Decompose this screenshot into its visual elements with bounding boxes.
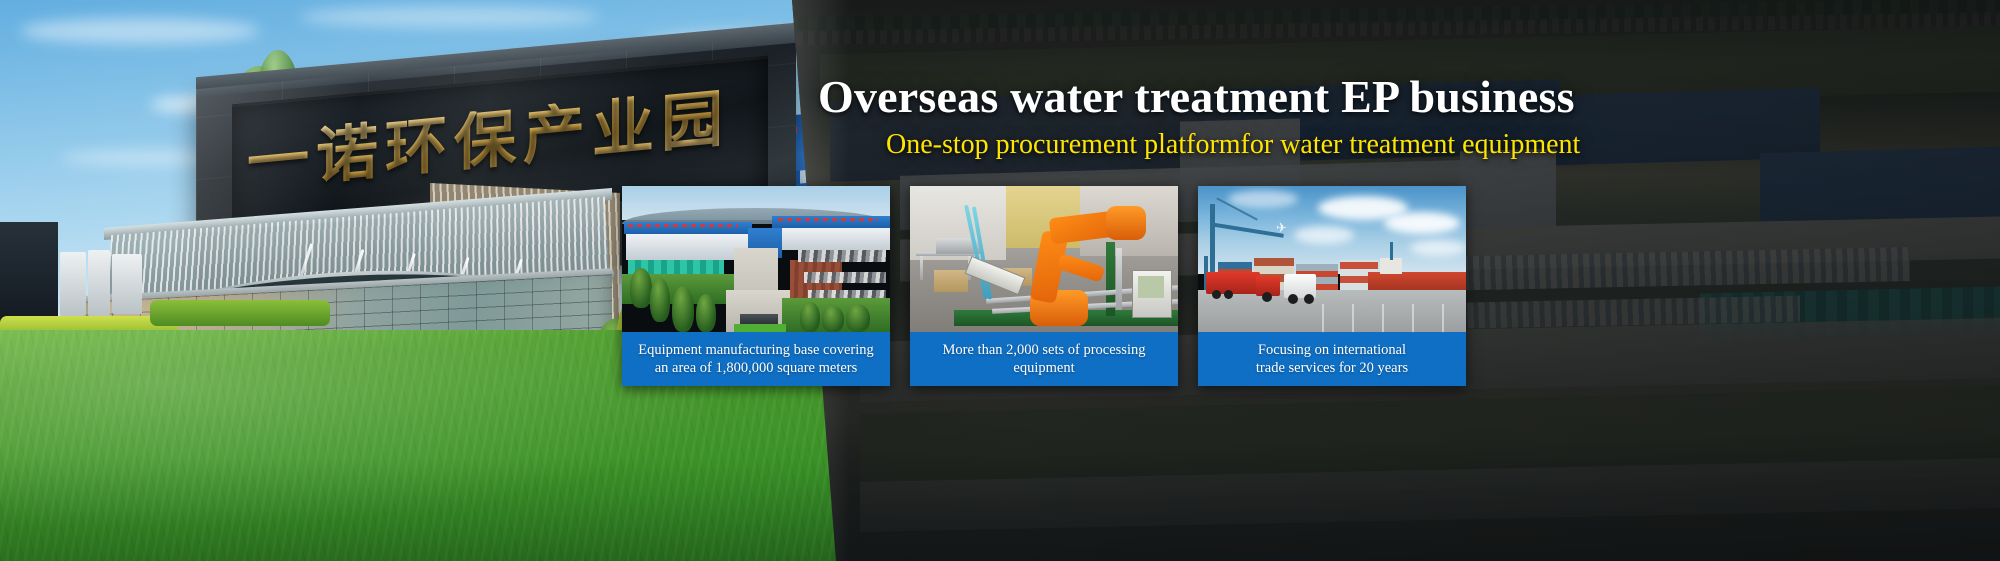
gantry-crane-mast bbox=[1210, 204, 1215, 276]
entrance-lawn bbox=[734, 324, 786, 332]
tree bbox=[822, 306, 844, 332]
promo-banner: 一诺环保产业园 bbox=[0, 0, 2000, 561]
caption-line-1: Equipment manufacturing base covering bbox=[638, 342, 874, 358]
card-image-robotic-arm bbox=[910, 186, 1178, 332]
parked-cars bbox=[798, 250, 886, 262]
hedge-row bbox=[150, 300, 330, 326]
machine-post bbox=[1116, 248, 1122, 310]
cloud bbox=[20, 18, 260, 44]
parked-cars bbox=[804, 272, 886, 283]
caption-line-2: trade services for 20 years bbox=[1256, 360, 1408, 376]
roof-banner bbox=[778, 218, 878, 221]
factory-facade bbox=[774, 228, 890, 250]
apron-markings bbox=[1322, 304, 1466, 332]
truck-wheel bbox=[1304, 294, 1314, 304]
utility-cabinet bbox=[112, 254, 142, 314]
crate bbox=[934, 270, 968, 292]
ship-mast bbox=[1390, 242, 1393, 260]
tree bbox=[846, 304, 870, 332]
feature-card-international-trade[interactable]: ✈ bbox=[1198, 186, 1466, 386]
cloud bbox=[1294, 226, 1354, 244]
utility-cabinet bbox=[88, 250, 110, 316]
tree bbox=[696, 294, 716, 332]
cloud bbox=[1410, 240, 1466, 256]
factory-facade bbox=[626, 234, 750, 260]
tree bbox=[630, 268, 652, 308]
feature-card-manufacturing-base[interactable]: Equipment manufacturing base covering an… bbox=[622, 186, 890, 386]
utility-enclosure bbox=[0, 222, 58, 330]
utility-cabinet bbox=[60, 252, 86, 316]
pendant-screen bbox=[1138, 276, 1164, 298]
feature-card-processing-equipment[interactable]: More than 2,000 sets of processing equip… bbox=[910, 186, 1178, 386]
cloud bbox=[1228, 190, 1298, 208]
robot-arm-joint bbox=[1106, 206, 1146, 240]
card-image-logistics-port: ✈ bbox=[1198, 186, 1466, 332]
truck-wheel bbox=[1212, 290, 1221, 299]
card-image-aerial-campus bbox=[622, 186, 890, 332]
cloud bbox=[300, 6, 600, 28]
caption-line-2: an area of 1,800,000 square meters bbox=[655, 360, 858, 376]
card-caption: More than 2,000 sets of processing equip… bbox=[910, 332, 1178, 386]
feature-card-list: Equipment manufacturing base covering an… bbox=[620, 186, 1980, 386]
truck-wheel bbox=[1288, 294, 1298, 304]
caption-line-1: Focusing on international bbox=[1258, 342, 1406, 358]
page-title: Overseas water treatment EP business bbox=[818, 73, 1978, 122]
truck-wheel bbox=[1224, 290, 1233, 299]
page-subtitle: One-stop procurement platformfor water t… bbox=[886, 130, 2000, 161]
ship-superstructure bbox=[1380, 258, 1402, 274]
tree bbox=[800, 302, 820, 332]
truck-wheel bbox=[1262, 292, 1272, 302]
tree bbox=[650, 278, 670, 322]
tree bbox=[672, 286, 694, 332]
table-leg bbox=[920, 256, 923, 280]
card-caption: Focusing on international trade services… bbox=[1198, 332, 1466, 386]
card-caption: Equipment manufacturing base covering an… bbox=[622, 332, 890, 386]
caption-line-1: More than 2,000 sets of processing equip… bbox=[916, 341, 1172, 378]
roof-banner bbox=[628, 224, 738, 227]
cloud bbox=[1384, 212, 1460, 234]
